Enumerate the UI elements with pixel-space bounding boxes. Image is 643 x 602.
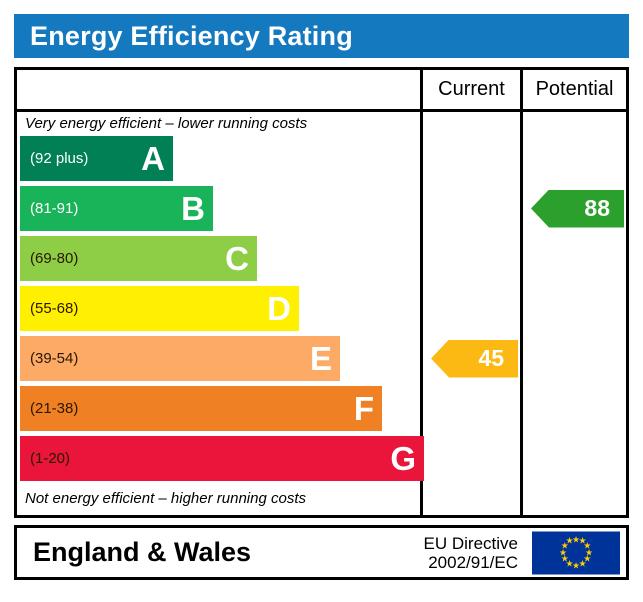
chart-title-banner: Energy Efficiency Rating — [14, 14, 629, 58]
band-range-a: (92 plus) — [20, 150, 88, 167]
potential-rating-arrow: 88 — [531, 190, 624, 228]
current-rating-arrow-value: 45 — [478, 345, 504, 372]
band-letter-f: F — [354, 392, 374, 425]
region-label: England & Wales — [17, 537, 251, 568]
band-range-b: (81-91) — [20, 200, 78, 217]
chart-footer: England & Wales EU Directive 2002/91/EC … — [14, 525, 629, 580]
band-row-e: (39-54)E — [20, 336, 340, 381]
eu-flag-star: ★ — [565, 537, 574, 546]
page-title: Energy Efficiency Rating — [14, 21, 353, 52]
band-letter-e: E — [310, 342, 332, 375]
band-range-c: (69-80) — [20, 250, 78, 267]
eu-directive-line-2: 2002/91/EC — [424, 553, 518, 572]
column-divider-potential — [520, 70, 523, 515]
potential-rating-arrow-value: 88 — [584, 195, 610, 222]
eu-directive-label: EU Directive 2002/91/EC — [424, 533, 518, 571]
band-letter-g: G — [390, 442, 416, 475]
band-row-g: (1-20)G — [20, 436, 424, 481]
band-letter-a: A — [141, 142, 165, 175]
eu-flag-icon: ★★★★★★★★★★★★ — [532, 531, 620, 574]
band-range-g: (1-20) — [20, 450, 70, 467]
band-row-d: (55-68)D — [20, 286, 299, 331]
top-caption: Very energy efficient – lower running co… — [25, 111, 307, 135]
column-header-potential: Potential — [523, 70, 626, 109]
band-row-f: (21-38)F — [20, 386, 382, 431]
rating-table: Current Potential Very energy efficient … — [14, 67, 629, 518]
band-letter-d: D — [267, 292, 291, 325]
band-range-e: (39-54) — [20, 350, 78, 367]
bottom-caption: Not energy efficient – higher running co… — [25, 486, 306, 510]
energy-efficiency-rating-chart: Energy Efficiency Rating Current Potenti… — [0, 0, 643, 602]
band-row-a: (92 plus)A — [20, 136, 173, 181]
column-header-current: Current — [423, 70, 520, 109]
band-range-d: (55-68) — [20, 300, 78, 317]
band-range-f: (21-38) — [20, 400, 78, 417]
band-row-c: (69-80)C — [20, 236, 257, 281]
band-letter-b: B — [181, 192, 205, 225]
band-row-b: (81-91)B — [20, 186, 213, 231]
current-rating-arrow: 45 — [431, 340, 518, 378]
band-bar-list: (92 plus)A(81-91)B(69-80)C(55-68)D(39-54… — [20, 136, 420, 486]
eu-directive-line-1: EU Directive — [424, 533, 518, 552]
band-letter-c: C — [225, 242, 249, 275]
